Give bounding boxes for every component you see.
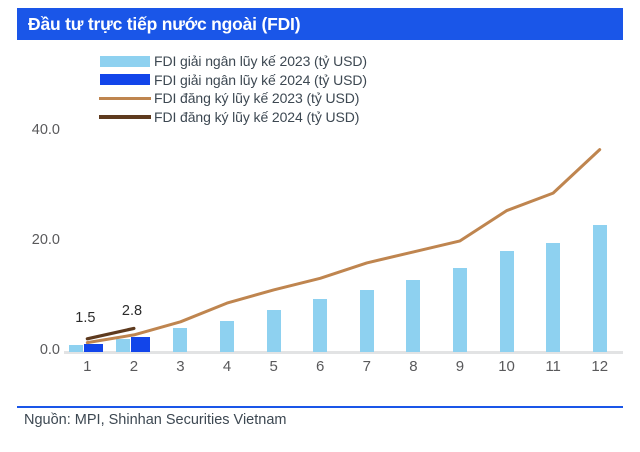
x-axis-tick-label: 11 <box>533 358 573 375</box>
bar-2024 <box>131 337 150 352</box>
x-axis-tick-label: 7 <box>347 358 387 375</box>
bar-layer: 1.52.8 <box>0 0 640 352</box>
bar-2023 <box>69 345 83 352</box>
x-axis-tick-label: 4 <box>207 358 247 375</box>
x-axis-tick-label: 8 <box>393 358 433 375</box>
bar-2023 <box>116 339 130 352</box>
x-axis-tick-label: 5 <box>254 358 294 375</box>
bar-data-label: 1.5 <box>75 310 95 326</box>
footer-divider <box>17 406 623 408</box>
bar-2023 <box>453 268 467 352</box>
bar-2023 <box>546 243 560 352</box>
bar-2023 <box>360 290 374 352</box>
x-axis-tick-label: 12 <box>580 358 620 375</box>
x-axis-tick-label: 10 <box>487 358 527 375</box>
x-axis-tick-label: 3 <box>160 358 200 375</box>
bar-2023 <box>220 321 234 352</box>
bar-2023 <box>406 280 420 352</box>
x-axis-tick-label: 1 <box>67 358 107 375</box>
bar-2024 <box>84 344 103 352</box>
bar-data-label: 2.8 <box>122 303 142 319</box>
x-axis-tick-label: 2 <box>114 358 154 375</box>
bar-2023 <box>500 251 514 352</box>
bar-2023 <box>267 310 281 352</box>
x-axis-tick-label: 6 <box>300 358 340 375</box>
bar-2023 <box>593 225 607 352</box>
x-axis-tick-label: 9 <box>440 358 480 375</box>
bar-2023 <box>313 299 327 352</box>
bar-2023 <box>173 328 187 352</box>
x-axis: 123456789101112 <box>0 358 640 384</box>
source-note: Nguồn: MPI, Shinhan Securities Vietnam <box>24 412 287 428</box>
chart-page: Đầu tư trực tiếp nước ngoài (FDI) FDI gi… <box>0 0 640 452</box>
